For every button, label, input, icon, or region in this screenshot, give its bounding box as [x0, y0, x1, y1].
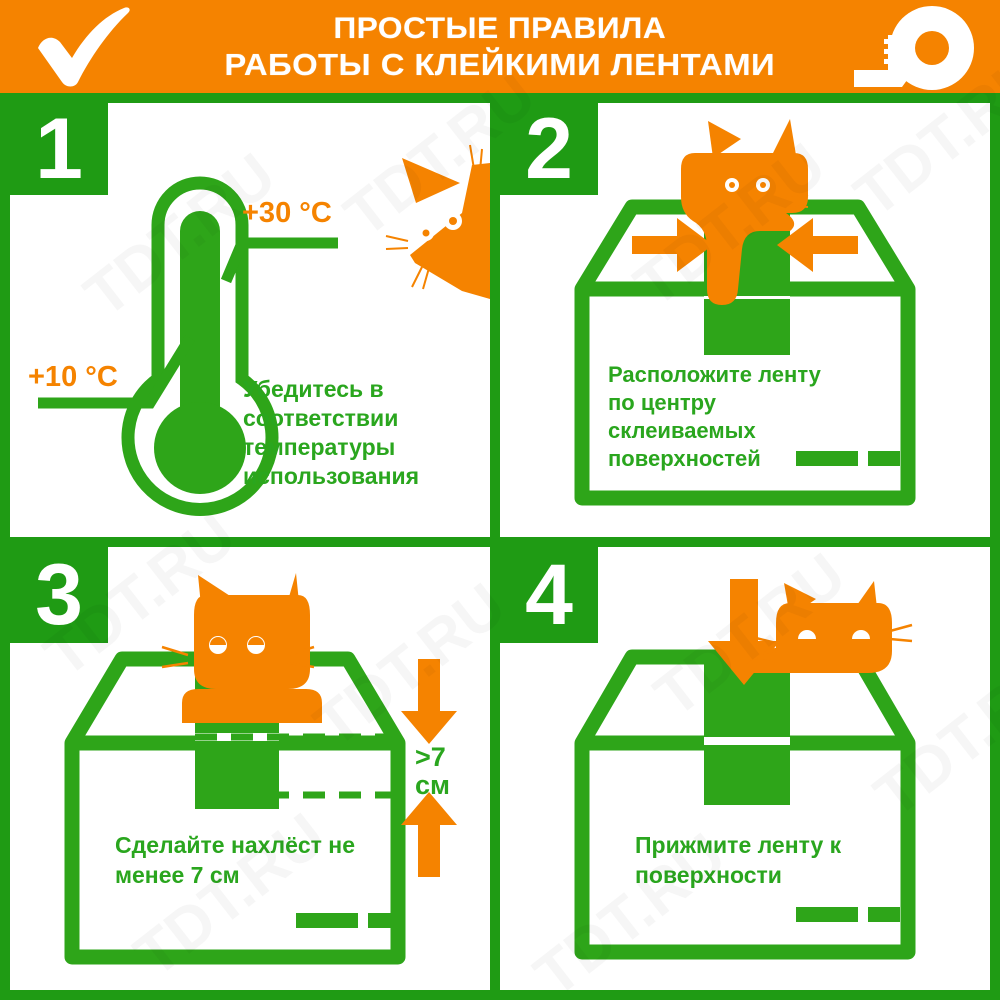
panel-2-caption: Расположите ленту по центру склеиваемых …: [608, 361, 843, 473]
box-sealed-icon: [582, 655, 908, 952]
overlap-measure-label: >7 см: [415, 743, 450, 799]
arrow-down-icon: [401, 659, 457, 744]
cat-in-box-icon: [162, 573, 322, 723]
poster-header: ПРОСТЫЕ ПРАВИЛА РАБОТЫ С КЛЕЙКИМИ ЛЕНТАМ…: [0, 0, 1000, 93]
cat-peeking-right-icon: [386, 145, 490, 299]
panel-1-caption: Убедитесь в соответствии температуры исп…: [243, 375, 483, 491]
header-title-line1: ПРОСТЫЕ ПРАВИЛА: [225, 11, 776, 47]
step-number-1: 1: [10, 103, 108, 195]
tape-roll-icon: [836, 4, 986, 92]
step-number-4: 4: [500, 547, 598, 643]
overlap-label-line1: >7: [415, 743, 450, 771]
arrow-up-icon: [401, 792, 457, 877]
temp-low-label: +10 °C: [28, 361, 118, 394]
panel-step-2: Расположите ленту по центру склеиваемых …: [500, 103, 990, 537]
header-title-line2: РАБОТЫ С КЛЕЙКИМИ ЛЕНТАМИ: [225, 47, 776, 83]
cat-lying-on-box-icon: [744, 581, 912, 673]
panel-3-caption: Сделайте нахлёст не менее 7 см: [115, 830, 380, 890]
overlap-label-line2: см: [415, 771, 450, 799]
infographic-poster: ПРОСТЫЕ ПРАВИЛА РАБОТЫ С КЛЕЙКИМИ ЛЕНТАМ…: [0, 0, 1000, 1000]
step-number-3: 3: [10, 547, 108, 643]
panel-step-4: Прижмите ленту к поверхности 4: [500, 547, 990, 990]
page-title: ПРОСТЫЕ ПРАВИЛА РАБОТЫ С КЛЕЙКИМИ ЛЕНТАМ…: [225, 11, 776, 83]
step-number-2: 2: [500, 103, 598, 195]
panel-step-3: >7 см Сделайте нахлёст не менее 7 см 3: [10, 547, 490, 990]
panel-step-1: +30 °C +10 °C Убедитесь в соответствии т…: [10, 103, 490, 537]
temp-high-label: +30 °C: [242, 197, 332, 230]
panel-4-caption: Прижмите ленту к поверхности: [635, 830, 885, 890]
check-mark-icon: [28, 6, 138, 88]
